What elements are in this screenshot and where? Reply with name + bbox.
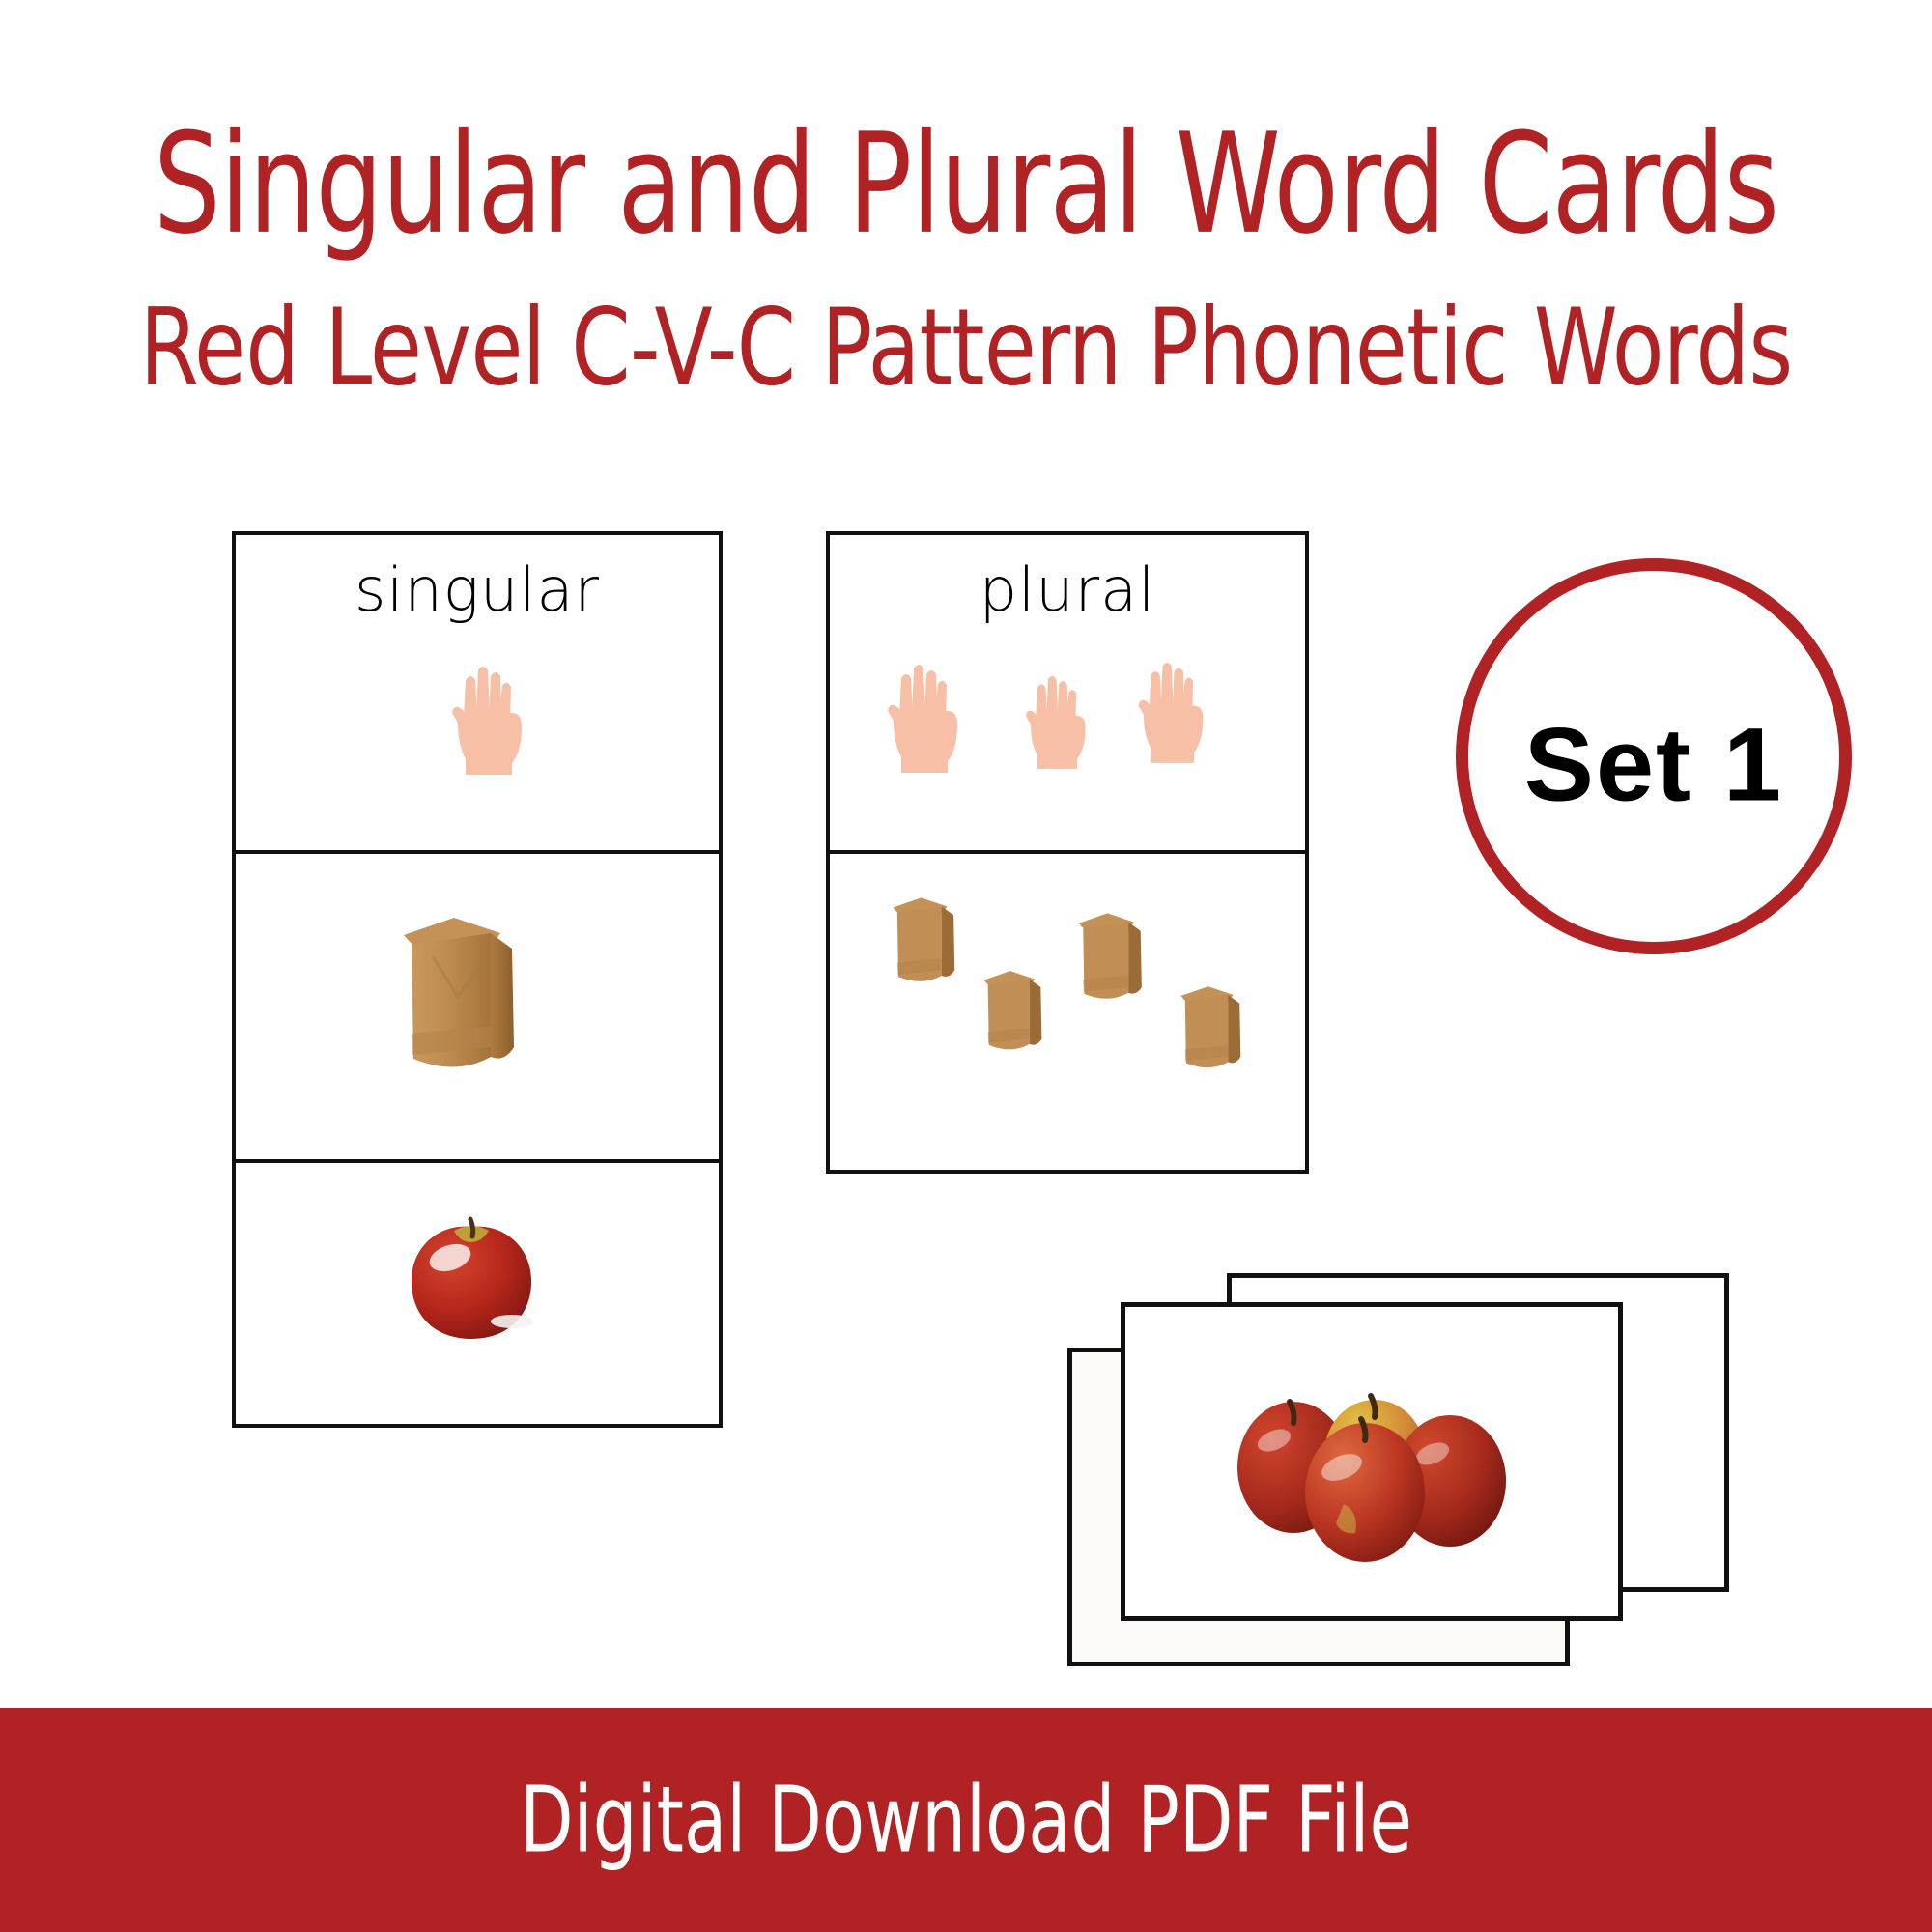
stack-card-front[interactable]: [1121, 1302, 1623, 1621]
card-singular-body: [236, 535, 719, 850]
card-bag-plural[interactable]: [826, 850, 1309, 1174]
open-hand-icon: [880, 661, 961, 775]
page-subtitle: Red Level C-V-C Pattern Phonetic Words: [116, 295, 1816, 401]
apples-photo: [1230, 1359, 1520, 1572]
paper-bag-photo: [1075, 910, 1149, 1007]
page-title: Singular and Plural Word Cards: [135, 116, 1797, 254]
open-hand-icon: [1131, 659, 1207, 765]
card-bag-singular[interactable]: [232, 850, 723, 1174]
card-apple-singular[interactable]: [232, 1159, 723, 1428]
open-hand-icon: [444, 663, 526, 777]
paper-bag-photo: [398, 912, 526, 1081]
open-hand-icon: [1019, 672, 1089, 771]
card-plural[interactable]: plural: [826, 531, 1309, 854]
poster-canvas: Singular and Plural Word Cards Red Level…: [0, 0, 1932, 1932]
set-badge-label: Set 1: [1468, 713, 1839, 817]
paper-bag-photo: [980, 968, 1048, 1057]
paper-bag-photo: [1178, 983, 1247, 1075]
footer-label: Digital Download PDF File: [135, 1775, 1797, 1865]
red-apple-photo: [404, 1213, 539, 1345]
card-plural-body: [830, 535, 1305, 850]
card-apple-singular-body: [236, 1163, 719, 1424]
card-bag-singular-body: [236, 854, 719, 1170]
card-bag-plural-body: [830, 854, 1305, 1170]
set-badge: Set 1: [1456, 558, 1852, 954]
paper-bag-photo: [890, 895, 961, 989]
footer-banner: Digital Download PDF File: [0, 1708, 1932, 1932]
card-singular[interactable]: singular: [232, 531, 723, 854]
